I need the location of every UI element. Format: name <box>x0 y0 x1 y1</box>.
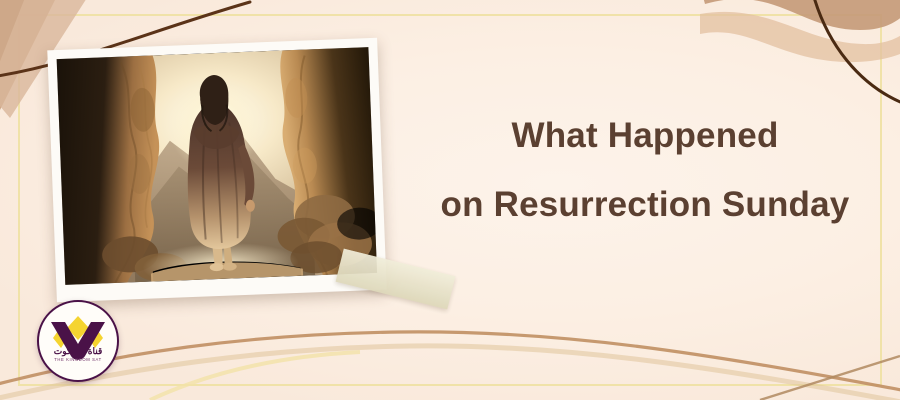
banner: What Happened on Resurrection Sunday قنا… <box>0 0 900 400</box>
logo-english-name: THE KINGDOM SAT <box>39 358 117 362</box>
page-title: What Happened on Resurrection Sunday <box>430 118 860 222</box>
logo[interactable]: قناة الملكوت THE KINGDOM SAT <box>37 300 119 382</box>
logo-mark <box>39 302 117 380</box>
photo-frame <box>47 38 386 302</box>
resurrection-illustration <box>57 47 377 285</box>
title-line-1: What Happened <box>430 118 860 153</box>
title-line-2: on Resurrection Sunday <box>430 187 860 222</box>
logo-arabic-name: قناة الملكوت <box>39 347 117 356</box>
photo-image <box>57 47 377 285</box>
